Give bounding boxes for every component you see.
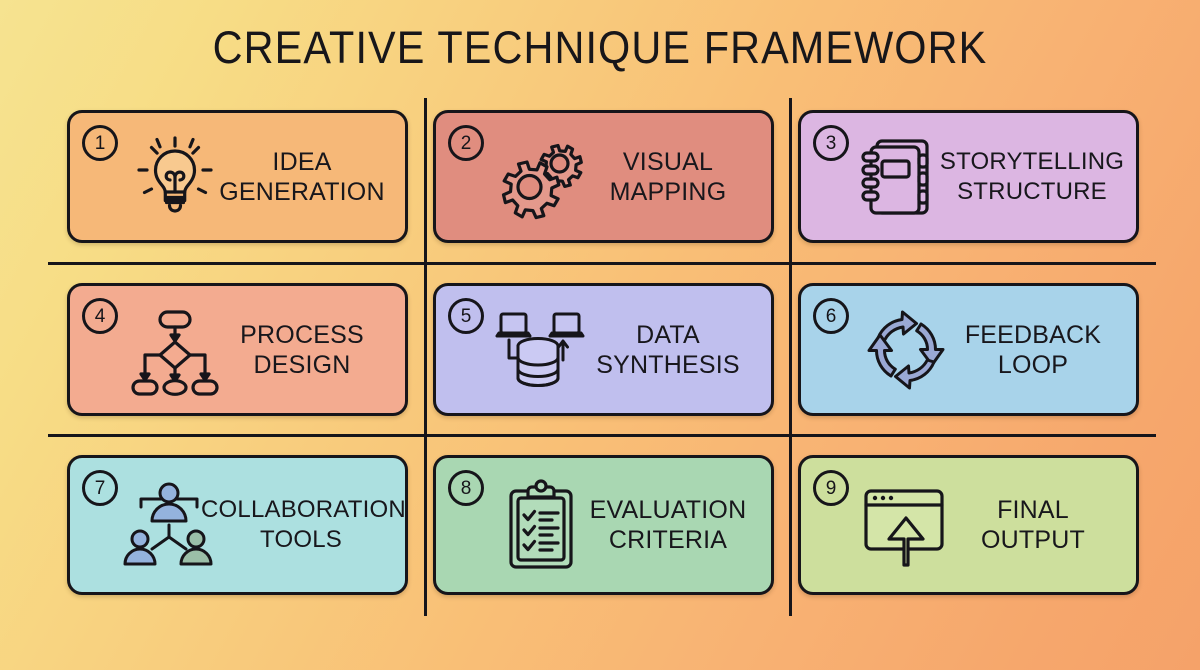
card-label: STORYTELLING STRUCTURE xyxy=(932,147,1132,207)
card-number-badge: 2 xyxy=(448,125,484,161)
card-storytelling-structure[interactable]: 3 STORYTELLING xyxy=(798,110,1139,243)
card-grid: 1 IDEA GENERATION 2 xyxy=(0,0,1200,670)
card-number-badge: 4 xyxy=(82,298,118,334)
card-label: DATA SYNTHESIS xyxy=(575,320,761,380)
card-label: COLLABORATION TOOLS xyxy=(201,495,401,555)
card-label: IDEA GENERATION xyxy=(209,147,395,207)
card-number-badge: 1 xyxy=(82,125,118,161)
card-number-badge: 6 xyxy=(813,298,849,334)
card-visual-mapping[interactable]: 2 VISUAL MAPPING xyxy=(433,110,774,243)
card-label: VISUAL MAPPING xyxy=(575,147,761,207)
card-feedback-loop[interactable]: 6 FEEDBACK LOOP xyxy=(798,283,1139,416)
card-label: EVALUATION CRITERIA xyxy=(575,495,761,555)
card-label: FEEDBACK LOOP xyxy=(940,320,1126,380)
framework-poster: CREATIVE TECHNIQUE FRAMEWORK 1 IDEA GENE… xyxy=(0,0,1200,670)
card-number-badge: 3 xyxy=(813,125,849,161)
card-number-badge: 5 xyxy=(448,298,484,334)
card-number-badge: 9 xyxy=(813,470,849,506)
card-evaluation-criteria[interactable]: 8 EVALUATION CRITERIA xyxy=(433,455,774,595)
card-number-badge: 8 xyxy=(448,470,484,506)
card-collaboration-tools[interactable]: 7 COLLABOR xyxy=(67,455,408,595)
card-idea-generation[interactable]: 1 IDEA GENERATION xyxy=(67,110,408,243)
card-final-output[interactable]: 9 FINAL OUTPUT xyxy=(798,455,1139,595)
card-data-synthesis[interactable]: 5 xyxy=(433,283,774,416)
card-process-design[interactable]: 4 PROCESS DESIGN xyxy=(67,283,408,416)
card-label: FINAL OUTPUT xyxy=(940,495,1126,555)
card-number-badge: 7 xyxy=(82,470,118,506)
card-label: PROCESS DESIGN xyxy=(209,320,395,380)
